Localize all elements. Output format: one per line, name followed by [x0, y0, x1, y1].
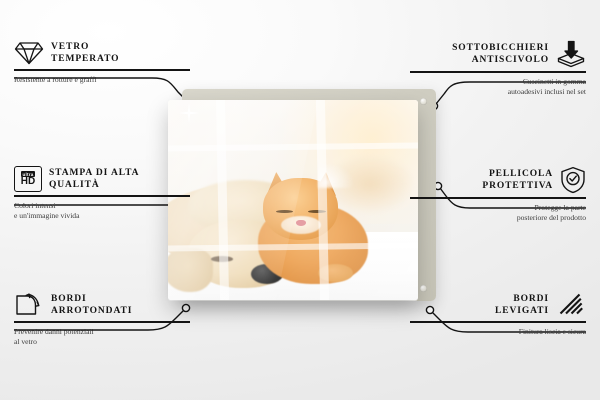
- puppy-ear: [168, 248, 213, 292]
- feature-description: Resistente a rotture e graffi: [14, 75, 190, 85]
- feature-desc-line2: posteriore del prodotto: [410, 213, 586, 223]
- glass-board: [168, 100, 418, 300]
- rounded-corner-icon: [14, 292, 44, 318]
- kitten-eye-left: [276, 210, 294, 213]
- feature-sottobicchieri-antiscivolo: SOTTOBICCHIERI ANTISCIVOLO Cuscinetti in…: [410, 40, 586, 97]
- rubber-pad-bottom-right: [420, 285, 427, 292]
- feature-header: ultra HD STAMPA DI ALTA QUALITÀ: [14, 166, 190, 192]
- feature-divider: [14, 321, 190, 323]
- feature-title: STAMPA DI ALTA QUALITÀ: [49, 167, 139, 192]
- rubber-pad-top-right: [420, 98, 427, 105]
- puppy-eye: [211, 256, 234, 262]
- feature-title: VETRO TEMPERATO: [51, 41, 119, 66]
- feature-divider: [410, 197, 586, 199]
- feature-desc-line1: Resistente a rotture e graffi: [14, 75, 190, 85]
- kitten-eye-right: [308, 210, 326, 213]
- infographic-canvas: VETRO TEMPERATO Resistente a rotture e g…: [0, 0, 600, 400]
- feature-title: PELLICOLA PROTETTIVA: [482, 168, 553, 193]
- feature-bordi-arrotondati: BORDI ARROTONDATI Prevenire danni potenz…: [14, 292, 190, 347]
- feature-description: Colori intensi e un'immagine vivida: [14, 201, 190, 221]
- feature-vetro-temperato: VETRO TEMPERATO Resistente a rotture e g…: [14, 40, 190, 85]
- hd-label: HD: [21, 177, 35, 187]
- feature-title-line1: STAMPA DI ALTA: [49, 167, 139, 180]
- printed-photo: [168, 100, 418, 300]
- feature-header: BORDI LEVIGATI: [410, 292, 586, 318]
- feature-description: Cuscinetti in gomma autoadesivi inclusi …: [410, 77, 586, 97]
- diamond-icon: [14, 40, 44, 66]
- feature-title-line2: TEMPERATO: [51, 53, 119, 66]
- feature-desc-line2: e un'immagine vivida: [14, 211, 190, 221]
- polished-edge-hatch-icon: [556, 292, 586, 318]
- feature-title-line1: SOTTOBICCHIERI: [452, 42, 549, 55]
- feature-desc-line1: Finitura liscia e sicura: [410, 327, 586, 337]
- feature-title-line2: QUALITÀ: [49, 179, 139, 192]
- feature-stampa-alta-qualita: ultra HD STAMPA DI ALTA QUALITÀ Colori i…: [14, 166, 190, 221]
- feature-title: SOTTOBICCHIERI ANTISCIVOLO: [452, 42, 549, 67]
- feature-divider: [14, 69, 190, 71]
- feature-header: SOTTOBICCHIERI ANTISCIVOLO: [410, 40, 586, 68]
- feature-header: VETRO TEMPERATO: [14, 40, 190, 66]
- feature-desc-line1: Protegge la parte: [410, 203, 586, 213]
- kitten-nose: [296, 220, 306, 226]
- ultra-hd-badge-icon: ultra HD: [14, 166, 42, 192]
- feature-desc-line2: al vetro: [14, 337, 190, 347]
- feature-bordi-levigati: BORDI LEVIGATI Finitura liscia e sicura: [410, 292, 586, 337]
- feature-description: Protegge la parte posteriore del prodott…: [410, 203, 586, 223]
- feature-title: BORDI LEVIGATI: [495, 293, 549, 318]
- feature-divider: [14, 195, 190, 197]
- product-mockup: [168, 94, 426, 306]
- feature-title-line2: ARROTONDATI: [51, 305, 132, 318]
- feature-title-line1: BORDI: [51, 293, 132, 306]
- feature-header: BORDI ARROTONDATI: [14, 292, 190, 318]
- feature-divider: [410, 321, 586, 323]
- feature-title-line1: VETRO: [51, 41, 119, 54]
- feature-header: PELLICOLA PROTETTIVA: [410, 166, 586, 194]
- feature-desc-line1: Prevenire danni potenziali: [14, 327, 190, 337]
- feature-title-line2: LEVIGATI: [495, 305, 549, 318]
- feature-desc-line2: autoadesivi inclusi nel set: [410, 87, 586, 97]
- feature-title-line1: PELLICOLA: [482, 168, 553, 181]
- feature-pellicola-protettiva: PELLICOLA PROTETTIVA Protegge la parte p…: [410, 166, 586, 223]
- feature-desc-line1: Cuscinetti in gomma: [410, 77, 586, 87]
- coaster-pad-arrow-icon: [556, 40, 586, 68]
- feature-desc-line1: Colori intensi: [14, 201, 190, 211]
- shield-check-icon: [560, 166, 586, 194]
- feature-description: Prevenire danni potenziali al vetro: [14, 327, 190, 347]
- feature-divider: [410, 71, 586, 73]
- kitten-fur-highlight: [318, 160, 358, 188]
- feature-title-line2: ANTISCIVOLO: [452, 54, 549, 67]
- feature-title-line2: PROTETTIVA: [482, 180, 553, 193]
- feature-title-line1: BORDI: [495, 293, 549, 306]
- kitten-paw: [318, 264, 353, 282]
- feature-description: Finitura liscia e sicura: [410, 327, 586, 337]
- feature-title: BORDI ARROTONDATI: [51, 293, 132, 318]
